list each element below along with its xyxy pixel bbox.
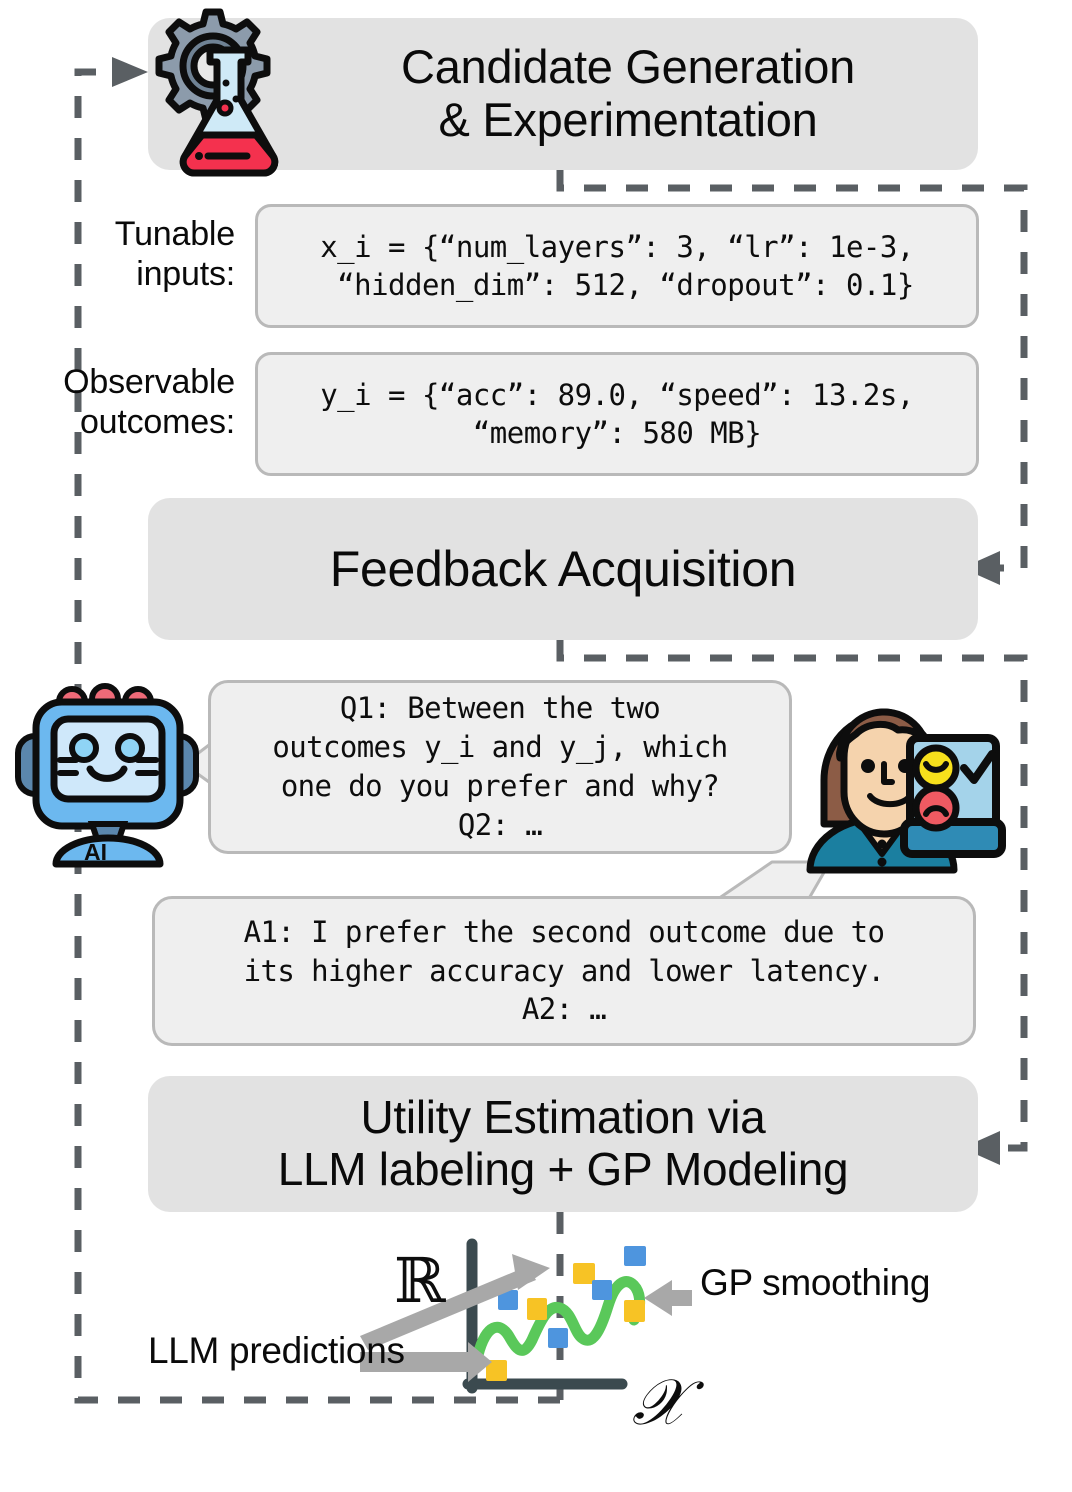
question-bubble: Q1: Between the two outcomes y_i and y_j… — [208, 680, 792, 854]
tunable-inputs-code-line1: x_i = {“num_layers”: 3, “lr”: 1e-3, — [320, 228, 914, 266]
observable-outcomes-label-line2: outcomes: — [0, 402, 235, 442]
human-evaluator-icon — [800, 684, 1006, 874]
stage-feedback-line1: Feedback Acquisition — [330, 541, 797, 597]
survey-board-icon — [904, 738, 1002, 854]
plot-ylabel-R: ℝ — [394, 1244, 446, 1317]
question-bubble-line1: Q1: Between the two — [340, 689, 660, 728]
answer-bubble-line2: its higher accuracy and lower latency. — [244, 952, 885, 991]
stage-utility-estimation[interactable]: Utility Estimation via LLM labeling + GP… — [148, 1076, 978, 1212]
answer-bubble: A1: I prefer the second outcome due to i… — [152, 896, 976, 1046]
question-bubble-line2: outcomes y_i and y_j, which — [272, 728, 727, 767]
tunable-inputs-code: x_i = {“num_layers”: 3, “lr”: 1e-3, “hid… — [255, 204, 979, 328]
observable-outcomes-code-line1: y_i = {“acc”: 89.0, “speed”: 13.2s, — [320, 376, 914, 414]
tunable-inputs-code-line2: “hidden_dim”: 512, “dropout”: 0.1} — [320, 266, 914, 304]
answer-bubble-line3: A2: … — [522, 990, 606, 1029]
tunable-inputs-label: Tunable inputs: — [20, 214, 235, 294]
observable-outcomes-code: y_i = {“acc”: 89.0, “speed”: 13.2s, “mem… — [255, 352, 979, 476]
question-bubble-line4: Q2: … — [458, 806, 542, 845]
robot-ai-badge-text: AI — [84, 839, 107, 865]
stage-candidate-line2: & Experimentation — [401, 94, 855, 147]
stage-candidate-line1: Candidate Generation — [401, 41, 855, 94]
tunable-inputs-label-line1: Tunable — [20, 214, 235, 254]
question-bubble-line3: one do you prefer and why? — [281, 767, 719, 806]
observable-outcomes-code-line2: “memory”: 580 MB} — [473, 414, 761, 452]
plot-xlabel-X: 𝒳 — [632, 1366, 705, 1428]
llm-predictions-annotation: LLM predictions — [148, 1330, 405, 1372]
gp-smoothing-arrow — [644, 1280, 692, 1316]
observable-outcomes-label: Observable outcomes: — [0, 362, 235, 442]
gear-flask-icon — [140, 4, 320, 184]
stage-utility-line2: LLM labeling + GP Modeling — [278, 1144, 849, 1196]
utility-plot: ℝ 𝒳 — [360, 1228, 760, 1428]
ai-robot-icon: AI — [10, 672, 206, 868]
answer-bubble-line1: A1: I prefer the second outcome due to — [244, 913, 885, 952]
stage-utility-line1: Utility Estimation via — [278, 1092, 849, 1144]
stage-feedback-acquisition[interactable]: Feedback Acquisition — [148, 498, 978, 640]
observable-outcomes-label-line1: Observable — [0, 362, 235, 402]
gp-smoothing-annotation: GP smoothing — [700, 1262, 930, 1304]
tunable-inputs-label-line2: inputs: — [20, 254, 235, 294]
diagram-canvas: Candidate Generation & Experimentation T… — [0, 0, 1072, 1492]
